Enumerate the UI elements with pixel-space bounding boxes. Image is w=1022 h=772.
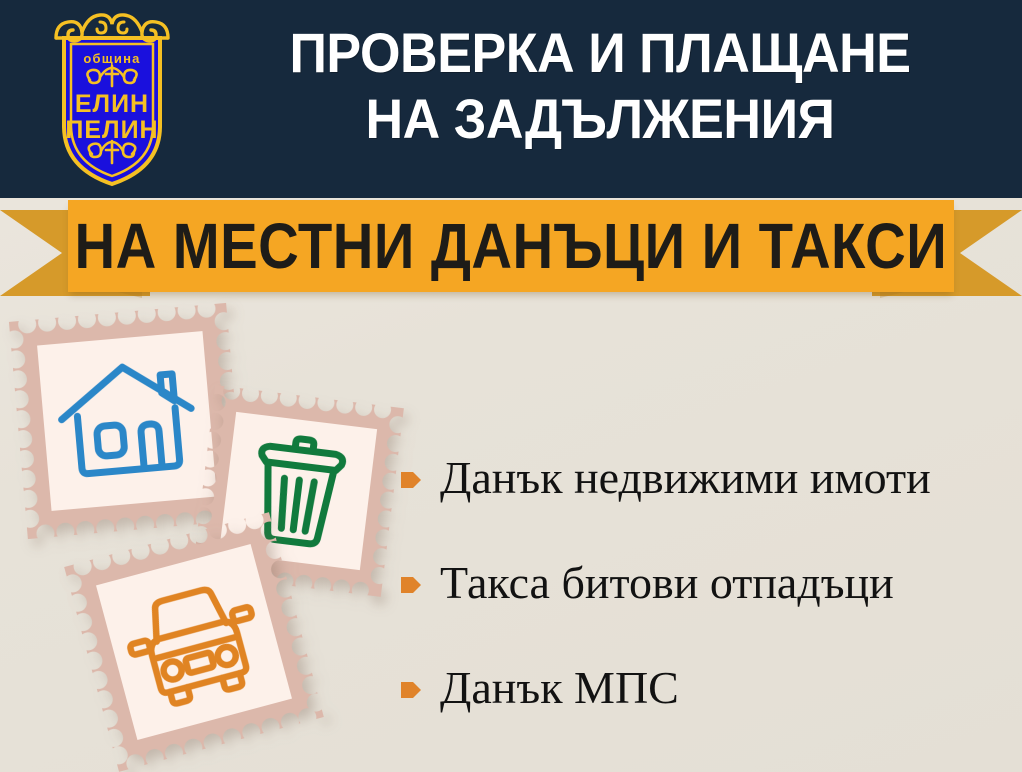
arrow-bullet-icon — [400, 573, 422, 597]
tax-type-list: Данък недвижими имоти Такса битови отпад… — [400, 425, 1015, 740]
list-item[interactable]: Такса битови отпадъци — [400, 530, 1015, 635]
arrow-bullet-icon — [400, 468, 422, 492]
arrow-bullet-icon — [400, 678, 422, 702]
stamp-collage — [0, 0, 420, 772]
list-item[interactable]: Данък недвижими имоти — [400, 425, 1015, 530]
list-item[interactable]: Данък МПС — [400, 635, 1015, 740]
poster-canvas: община ЕЛИН ПЕЛИН — [0, 0, 1022, 772]
list-item-label: Такса битови отпадъци — [440, 560, 894, 606]
list-item-label: Данък МПС — [440, 665, 679, 711]
list-item-label: Данък недвижими имоти — [440, 455, 931, 501]
